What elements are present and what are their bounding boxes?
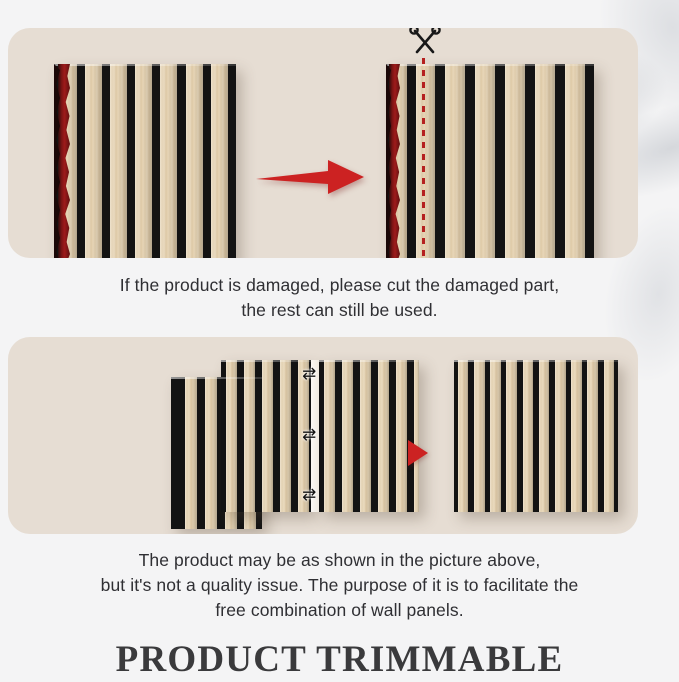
caption-panel-combination: The product may be as shown in the pictu… xyxy=(0,548,679,623)
scissors-icon xyxy=(408,28,442,63)
page-title: PRODUCT TRIMMABLE xyxy=(0,638,679,681)
trimmed-slat-panel xyxy=(386,64,594,258)
caption-bottom-line-1: The product may be as shown in the pictu… xyxy=(0,548,679,573)
double-arrow-horizontal-icon-3: ⇄ xyxy=(302,487,316,504)
caption-bottom-line-2: but it's not a quality issue. The purpos… xyxy=(0,573,679,598)
caption-top-line-2: the rest can still be used. xyxy=(0,298,679,323)
combined-slat-panel xyxy=(454,360,618,512)
double-arrow-horizontal-icon-2: ⇄ xyxy=(302,427,316,444)
caption-damaged-panel: If the product is damaged, please cut th… xyxy=(0,273,679,323)
caption-bottom-line-3: free combination of wall panels. xyxy=(0,598,679,623)
double-arrow-horizontal-icon-1: ⇄ xyxy=(302,366,316,383)
dashed-cut-line xyxy=(422,58,425,258)
triangle-right-icon-2 xyxy=(408,440,428,466)
damaged-panel-card xyxy=(8,28,638,258)
caption-top-line-1: If the product is damaged, please cut th… xyxy=(0,273,679,298)
joining-panel-right xyxy=(319,360,419,512)
joining-panel-left xyxy=(221,360,311,512)
arrow-right-icon xyxy=(256,156,366,198)
damaged-slat-panel xyxy=(54,64,236,258)
panel-combination-card: ⇄ ⇄ ⇄ xyxy=(8,337,638,534)
